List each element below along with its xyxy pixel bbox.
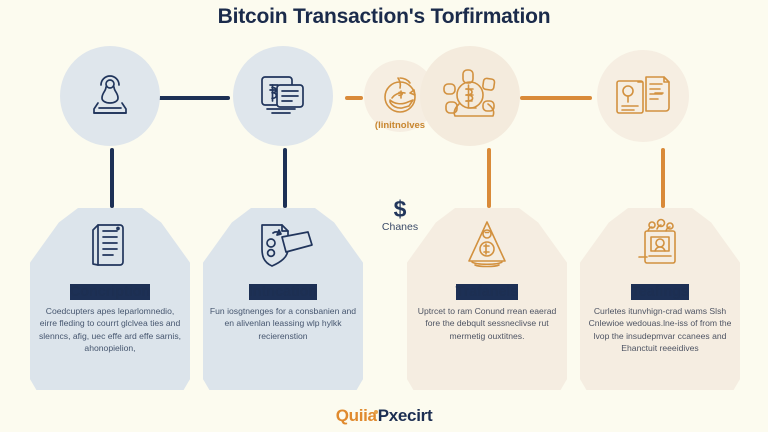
card-body: Coedcupters apes leparlomnedio, eirre fl… — [36, 305, 184, 355]
stamp-seal-icon — [84, 70, 136, 122]
infographic-canvas: Bitcoin Transaction's Torfirmation — [0, 0, 768, 432]
card-body: Curletes itunvhign-crad wams Slsh Cnlewi… — [586, 305, 734, 355]
documents-icon — [613, 69, 673, 123]
card-title: Teafings — [631, 284, 689, 300]
node-monitor-bitcoin[interactable] — [233, 46, 333, 146]
connector-node4-node5 — [520, 96, 592, 100]
card-title: Trafanels — [456, 284, 519, 300]
brand-name-primary: Quiia — [336, 406, 377, 425]
network-bitcoin-icon — [439, 67, 501, 125]
node-network-bitcoin[interactable] — [420, 46, 520, 146]
connector-node4-card3 — [487, 148, 491, 208]
server-document-icon — [30, 212, 190, 278]
card-trafanels[interactable]: Trafanels Uptrcet to ram Conund rrean ea… — [407, 208, 567, 390]
monitor-bitcoin-icon — [255, 71, 311, 121]
connector-node5-card4 — [661, 148, 665, 208]
money-bag-circle-icon — [376, 72, 424, 120]
connector-node1-node2 — [152, 96, 230, 100]
node-stamp-seal[interactable] — [60, 46, 160, 146]
node-documents[interactable] — [597, 50, 689, 142]
connector-node1-card1 — [110, 148, 114, 208]
center-label-caption: Chanes — [360, 221, 440, 233]
center-label: $ Chanes — [360, 198, 440, 233]
shield-card-icon — [203, 212, 363, 278]
connector-node3-left — [345, 96, 363, 100]
card-title: Intncation — [249, 284, 317, 300]
card-teafings[interactable]: Teafings Curletes itunvhign-crad wams Sl… — [580, 208, 740, 390]
card-body: Uptrcet to ram Conund rrean eaerad fore … — [413, 305, 561, 342]
ledger-people-icon — [580, 212, 740, 278]
card-concription[interactable]: Concription Coedcupters apes leparlomned… — [30, 208, 190, 390]
dollar-sign-icon: $ — [360, 198, 440, 220]
card-title: Concription — [70, 284, 150, 300]
brand-name-secondary: Pxecirt — [378, 406, 433, 425]
card-intncation[interactable]: Intncation Fun iosgtnenges for a consban… — [203, 208, 363, 390]
page-title: Bitcoin Transaction's Torfirmation — [0, 5, 768, 29]
card-body: Fun iosgtnenges for a consbanien and en … — [209, 305, 357, 342]
connector-node2-card2 — [283, 148, 287, 208]
footer-logo[interactable]: QuiiaPxecirt — [0, 406, 768, 426]
